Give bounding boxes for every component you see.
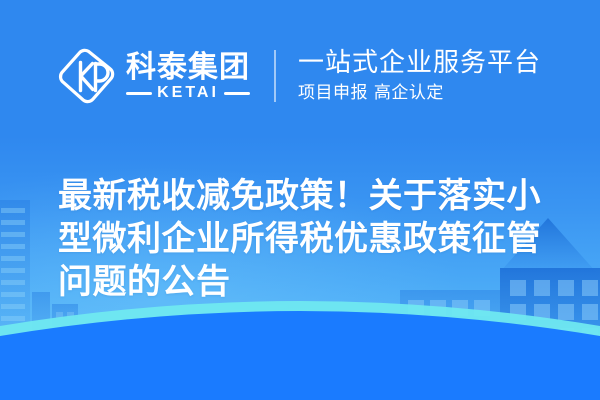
tagline-main: 一站式企业服务平台 bbox=[298, 48, 541, 79]
header: 科泰集团 KETAI 一站式企业服务平台 项目申报 高企认定 bbox=[0, 40, 600, 112]
brand-logo[interactable]: 科泰集团 KETAI bbox=[58, 47, 250, 105]
tagline-sub: 项目申报 高企认定 bbox=[298, 82, 541, 104]
tagline: 一站式企业服务平台 项目申报 高企认定 bbox=[298, 48, 541, 105]
brand-name-cn: 科泰集团 bbox=[126, 53, 250, 84]
brand-name-en-row: KETAI bbox=[126, 85, 250, 101]
vertical-divider-icon bbox=[274, 50, 276, 102]
banner-root: 科泰集团 KETAI 一站式企业服务平台 项目申报 高企认定 最新税收减免政策！… bbox=[0, 0, 600, 400]
brand-name-en: KETAI bbox=[157, 85, 219, 101]
ketai-diamond-kp-monogram-icon bbox=[58, 47, 116, 105]
brand-wordmark: 科泰集团 KETAI bbox=[126, 53, 250, 102]
page-title: 最新税收减免政策！关于落实小型微利企业所得税优惠政策征管问题的公告 bbox=[58, 175, 558, 304]
dash-left-icon bbox=[126, 92, 152, 95]
dash-right-icon bbox=[224, 92, 250, 95]
